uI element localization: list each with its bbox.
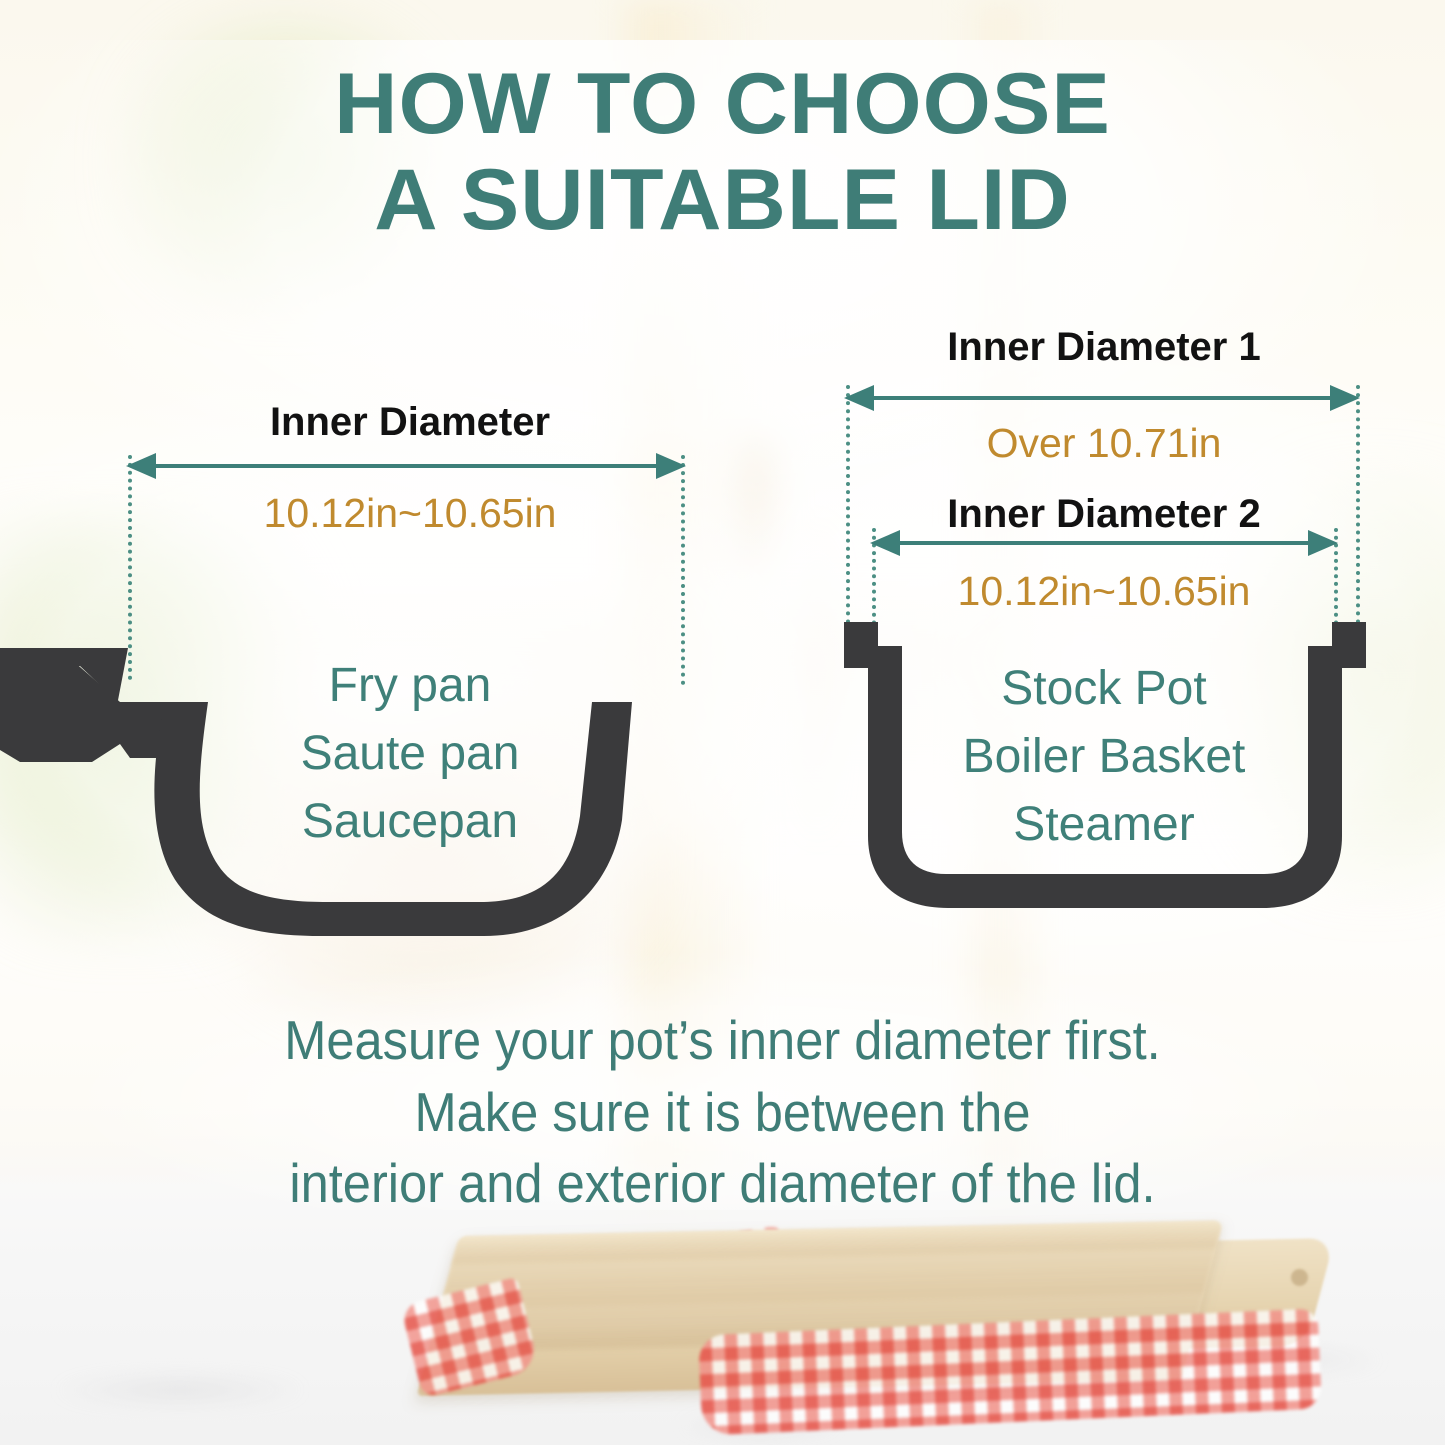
- right-category-1: Boiler Basket: [848, 723, 1360, 791]
- left-category-0: Fry pan: [130, 652, 690, 720]
- right-category-list: Stock Pot Boiler Basket Steamer: [848, 655, 1360, 859]
- left-dimension-value: 10.12in~10.65in: [130, 490, 690, 537]
- left-category-2: Saucepan: [130, 788, 690, 856]
- bottom-note-line-2: Make sure it is between the: [58, 1077, 1387, 1149]
- left-category-1: Saute pan: [130, 720, 690, 788]
- right-dimension-2-arrow: [870, 527, 1338, 559]
- title-line-1: HOW TO CHOOSE: [0, 62, 1445, 146]
- right-dimension-1-label: Inner Diameter 1: [848, 325, 1360, 370]
- right-category-2: Steamer: [848, 791, 1360, 859]
- right-dimension-1-arrow: [844, 382, 1360, 414]
- bottom-note-line-3: interior and exterior diameter of the li…: [58, 1148, 1387, 1220]
- left-dimension-arrow: [126, 450, 686, 482]
- page-title: HOW TO CHOOSE A SUITABLE LID: [0, 62, 1445, 243]
- bottom-note-line-1: Measure your pot’s inner diameter first.: [58, 1005, 1387, 1077]
- bottom-instruction: Measure your pot’s inner diameter first.…: [58, 1005, 1387, 1220]
- title-line-2: A SUITABLE LID: [0, 158, 1445, 242]
- left-category-list: Fry pan Saute pan Saucepan: [130, 652, 690, 856]
- left-dimension-label: Inner Diameter: [130, 400, 690, 445]
- right-category-0: Stock Pot: [848, 655, 1360, 723]
- infographic-canvas: HOW TO CHOOSE A SUITABLE LID Inner Diame…: [0, 0, 1445, 1445]
- right-dimension-2-value: 10.12in~10.65in: [848, 568, 1360, 615]
- right-dimension-1-value: Over 10.71in: [848, 420, 1360, 467]
- cutting-board-hole: [1291, 1269, 1308, 1286]
